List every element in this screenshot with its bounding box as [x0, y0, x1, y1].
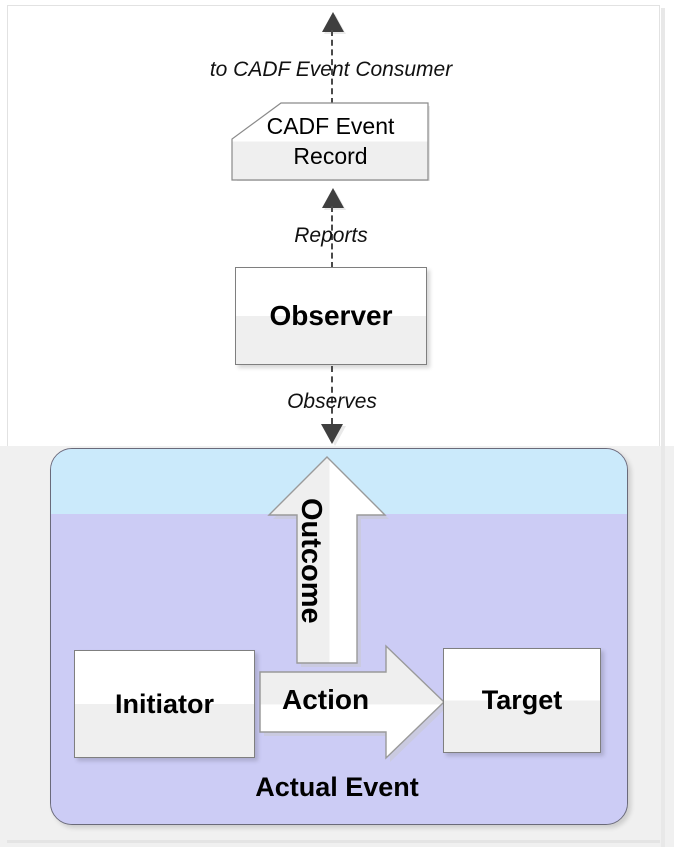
block-arrow-outcome[interactable] — [265, 455, 390, 667]
node-cadf-event-record[interactable]: CADF Event Record — [231, 102, 430, 181]
initiator-label: Initiator — [115, 689, 214, 720]
edge-label-to-consumer: to CADF Event Consumer — [131, 58, 531, 82]
node-initiator[interactable]: Initiator — [74, 650, 255, 758]
observer-label: Observer — [270, 300, 393, 332]
edge-label-observes: Observes — [232, 390, 432, 414]
node-observer[interactable]: Observer — [235, 267, 427, 365]
cadf-record-line2: Record — [293, 142, 367, 171]
cadf-record-line1: CADF Event — [267, 112, 395, 141]
block-arrow-action[interactable] — [258, 644, 448, 762]
edge-label-reports: Reports — [231, 224, 431, 248]
target-label: Target — [482, 685, 563, 716]
outcome-arrow-shape — [269, 457, 385, 663]
node-target[interactable]: Target — [443, 648, 601, 753]
reports-arrowhead-icon — [322, 188, 344, 208]
cadf-record-label-group: CADF Event Record — [231, 102, 430, 181]
observes-arrowhead-icon — [321, 424, 343, 444]
actual-event-caption: Actual Event — [0, 772, 674, 803]
action-arrow-shape — [260, 646, 444, 758]
to-consumer-arrowhead-icon — [322, 12, 344, 32]
diagram-canvas: to CADF Event Consumer — [0, 0, 674, 847]
